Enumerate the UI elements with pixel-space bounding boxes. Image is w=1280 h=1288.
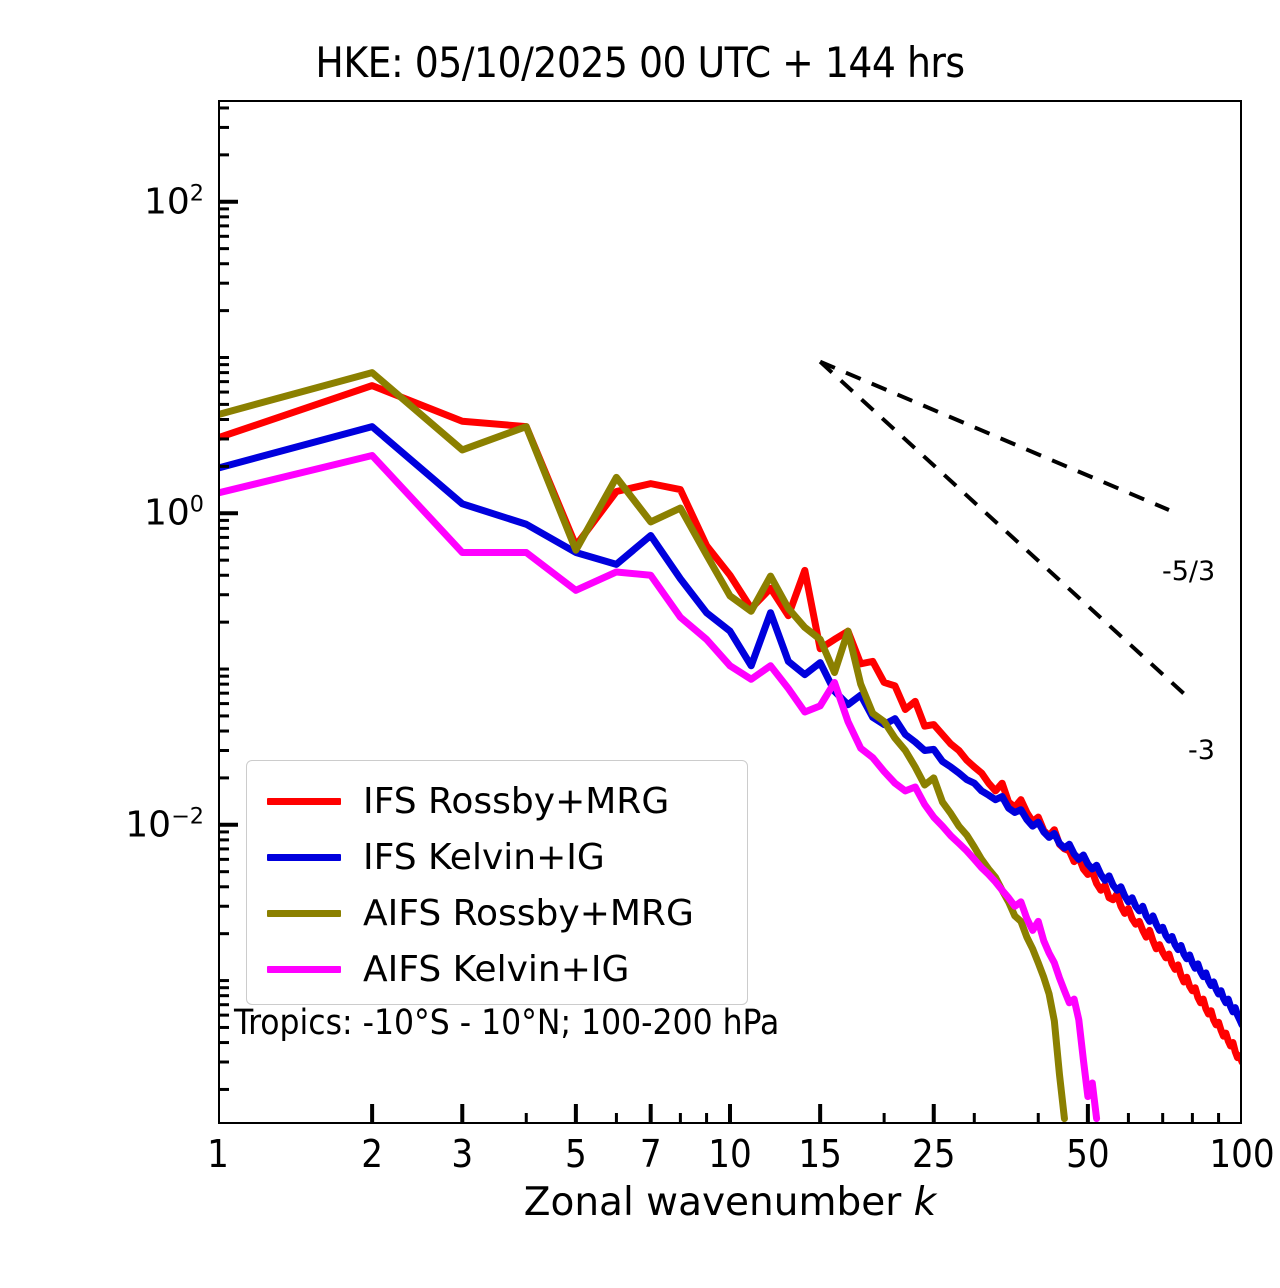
legend-item-label: IFS Kelvin+IG bbox=[363, 837, 605, 878]
slope-reference-line bbox=[820, 362, 1169, 510]
legend: IFS Rossby+MRGIFS Kelvin+IGAIFS Rossby+M… bbox=[246, 760, 748, 1005]
legend-item[interactable]: IFS Rossby+MRG bbox=[247, 773, 747, 829]
x-tick-label: 50 bbox=[1066, 1132, 1110, 1176]
chart-page: HKE: 05/10/2025 00 UTC + 144 hrs Horizon… bbox=[0, 0, 1280, 1288]
region-annotation: Tropics: -10°S - 10°N; 100-200 hPa bbox=[234, 1003, 779, 1043]
x-axis-label-symbol: k bbox=[914, 1180, 937, 1225]
reference-lines-layer bbox=[820, 362, 1192, 702]
legend-item[interactable]: AIFS Kelvin+IG bbox=[247, 941, 747, 997]
legend-color-swatch bbox=[267, 910, 341, 917]
slope-reference-line bbox=[820, 362, 1192, 702]
x-tick-label: 25 bbox=[912, 1132, 956, 1176]
x-tick-label: 3 bbox=[451, 1132, 473, 1176]
x-tick-label: 10 bbox=[708, 1132, 752, 1176]
legend-item[interactable]: IFS Kelvin+IG bbox=[247, 829, 747, 885]
x-tick-label: 5 bbox=[565, 1132, 587, 1176]
x-tick-label: 100 bbox=[1209, 1132, 1274, 1176]
slope-label: -3 bbox=[1188, 735, 1215, 766]
legend-color-swatch bbox=[267, 798, 341, 805]
legend-color-swatch bbox=[267, 966, 341, 973]
legend-item-label: AIFS Kelvin+IG bbox=[363, 949, 629, 990]
legend-item-label: AIFS Rossby+MRG bbox=[363, 893, 694, 934]
page-title: HKE: 05/10/2025 00 UTC + 144 hrs bbox=[0, 38, 1280, 87]
y-tick-label: 10−2 bbox=[125, 804, 204, 845]
legend-color-swatch bbox=[267, 854, 341, 861]
y-tick-label: 100 bbox=[144, 493, 204, 534]
legend-item[interactable]: AIFS Rossby+MRG bbox=[247, 885, 747, 941]
slope-label: -5/3 bbox=[1162, 556, 1215, 587]
x-tick-label: 1 bbox=[207, 1132, 229, 1176]
x-tick-label: 2 bbox=[361, 1132, 383, 1176]
legend-item-label: IFS Rossby+MRG bbox=[363, 781, 669, 822]
y-tick-label: 102 bbox=[144, 181, 204, 222]
x-tick-label: 7 bbox=[640, 1132, 662, 1176]
x-axis-label-main: Zonal wavenumber bbox=[524, 1180, 914, 1225]
x-axis-label: Zonal wavenumber k bbox=[218, 1180, 1242, 1225]
x-tick-label: 15 bbox=[798, 1132, 842, 1176]
